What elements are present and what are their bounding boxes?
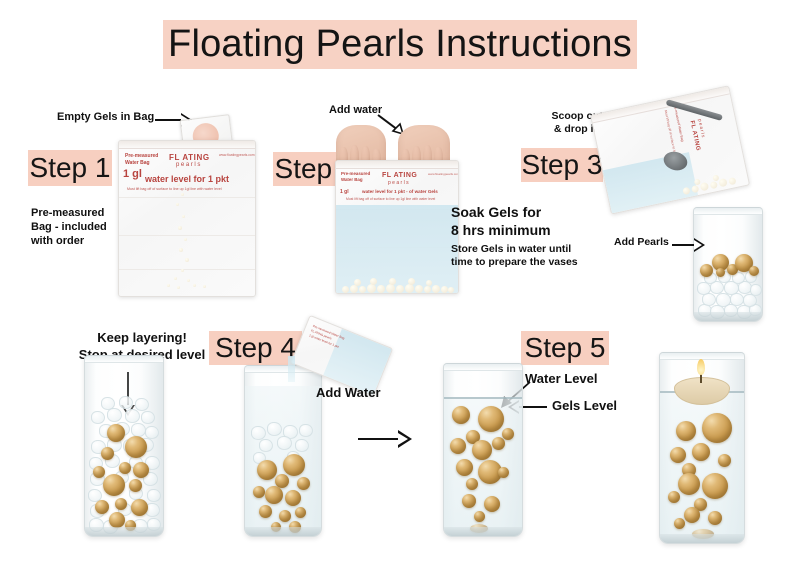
step5-gels-arrow-line xyxy=(519,406,547,408)
step2-callout-add-water: Add water xyxy=(329,103,382,117)
transition-arrow-line xyxy=(358,438,398,440)
vase4b-contents xyxy=(245,386,321,536)
water-bag-filled: Pre-measuredWater Bag FL ATING pearls 1 … xyxy=(335,160,459,294)
vase5a-pearls xyxy=(444,399,522,536)
step-badge-1-label: Step 1 xyxy=(30,152,111,184)
vase3-pearls xyxy=(694,251,762,277)
step-badge-1: Step 1 xyxy=(28,150,112,186)
step-badge-4-label: Step 4 xyxy=(215,332,296,364)
step5-callout-gels-level: Gels Level xyxy=(552,398,617,415)
water-stream xyxy=(288,356,295,382)
vase-step5-with-candle xyxy=(659,352,745,544)
tilted-bag-with-spoon: Pre-measured Water Bag FL ATING pearls M… xyxy=(590,84,760,225)
page-title-banner: Floating Pearls Instructions xyxy=(163,20,637,69)
infographic-canvas: Floating Pearls Instructions Empty Gels … xyxy=(0,0,800,571)
vase-step4-layered xyxy=(84,355,164,537)
page-title: Floating Pearls Instructions xyxy=(168,23,632,66)
step2-note-body: Store Gels in water until time to prepar… xyxy=(451,243,578,270)
dry-gel-crystals xyxy=(119,141,255,296)
step1-callout-empty-gels: Empty Gels in Bag xyxy=(57,110,154,124)
step3-callout-add-pearls: Add Pearls xyxy=(614,236,669,249)
step-badge-3-label: Step 3 xyxy=(522,149,603,181)
vase5b-pearls xyxy=(660,403,744,543)
bag2-brand2: pearls xyxy=(388,180,410,186)
step1-arrow-line xyxy=(155,119,181,121)
candle-flame xyxy=(697,359,705,375)
step-badge-5: Step 5 xyxy=(521,331,609,365)
transition-arrow-head-inner xyxy=(398,433,408,445)
step1-caption-premeasured: Pre-measured Bag - included with order xyxy=(31,206,107,248)
step2-note-heading: Soak Gels for 8 hrs minimum xyxy=(451,204,551,240)
vase-step4-water xyxy=(244,365,322,537)
bag2-brand: FL ATING xyxy=(382,172,417,179)
step-badge-3: Step 3 xyxy=(521,148,603,182)
step5-callout-water-level: Water Level xyxy=(525,371,598,388)
bag2-volume: 1 gl xyxy=(340,189,349,195)
premeasured-water-bag: Pre-measured Water Bag 1 gl FL ATING pea… xyxy=(118,140,256,297)
vase-step5-finished xyxy=(443,363,523,537)
soaked-gel-beads xyxy=(336,279,458,293)
step3-arrow-head-inner xyxy=(694,240,702,250)
vase-step3 xyxy=(693,207,763,322)
step4-callout-add-water: Add Water xyxy=(316,385,381,402)
step3-arrow-line xyxy=(672,244,694,246)
vase4a-contents xyxy=(85,396,163,536)
bag2-fineprint: Must lift bag off of surface to line up … xyxy=(346,197,435,201)
step-badge-5-label: Step 5 xyxy=(525,332,606,364)
bag2-headline: water level for 1 pkt - of water Gels xyxy=(362,189,438,194)
